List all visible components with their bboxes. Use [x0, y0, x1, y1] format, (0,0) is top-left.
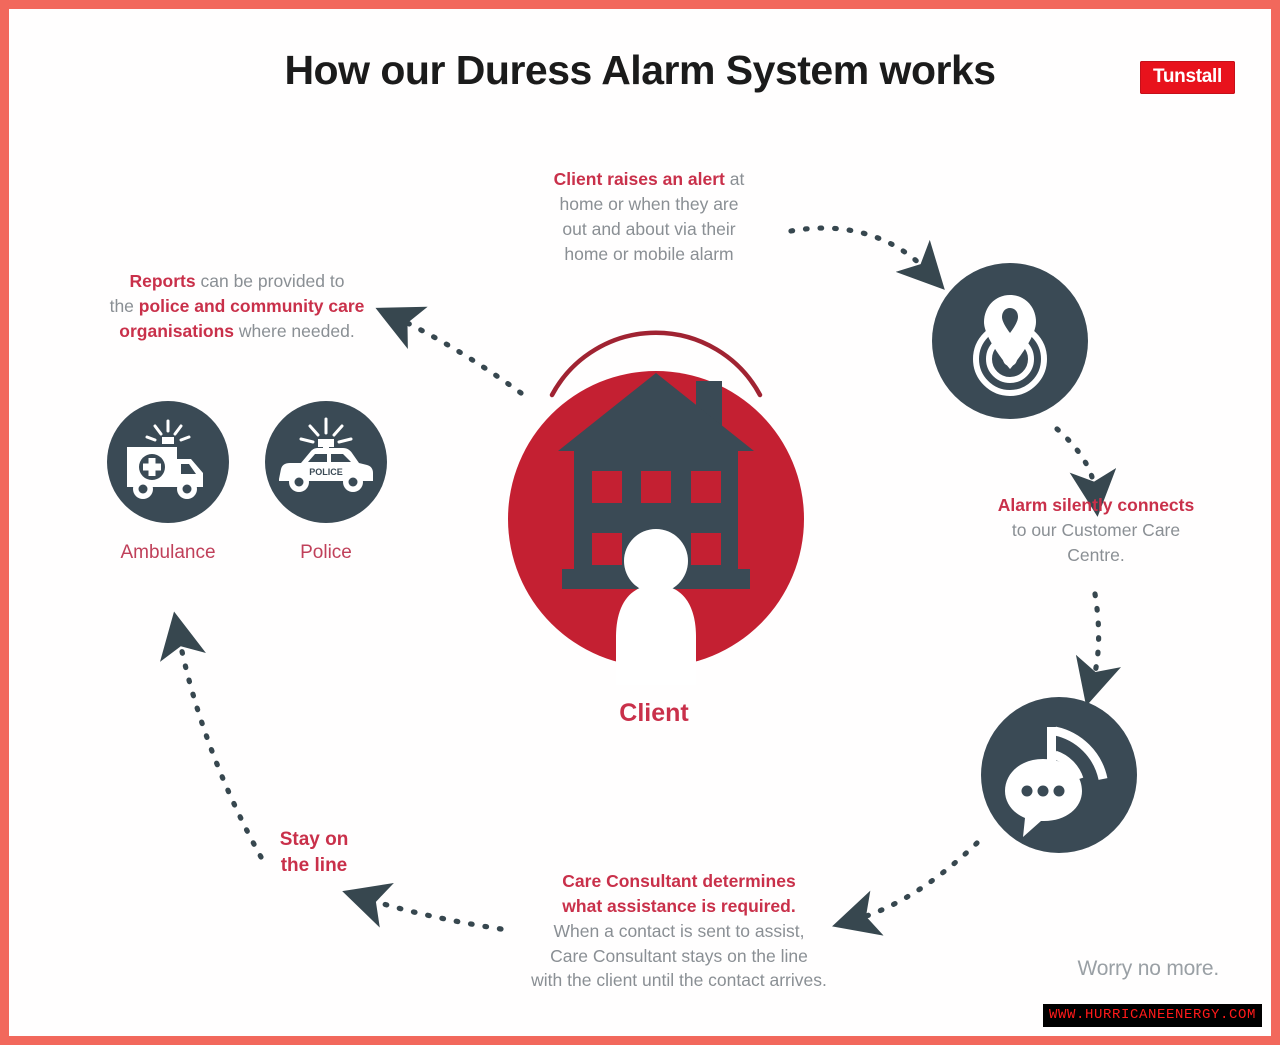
tunstall-logo: Tunstall	[1140, 61, 1235, 94]
tagline: Worry no more.	[1077, 957, 1219, 981]
page-title: How our Duress Alarm System works	[9, 47, 1271, 94]
reports-line2-pre: the	[110, 296, 139, 316]
step-text-reports: Reports can be provided to the police an…	[77, 269, 397, 344]
consultant-line4: Care Consultant stays on the line	[550, 946, 808, 966]
infographic-canvas: How our Duress Alarm System works Tunsta…	[0, 0, 1280, 1045]
person-silhouette	[616, 529, 696, 685]
location-node	[932, 263, 1088, 419]
arrow-location-to-care-centre	[1057, 429, 1095, 491]
chat-bubble-signal-icon	[981, 697, 1137, 853]
arrow-alert-to-location	[791, 228, 927, 271]
ambulance-label: Ambulance	[77, 542, 259, 564]
police-label: Police	[235, 542, 417, 564]
siren-flash	[301, 419, 351, 442]
ambulance-icon	[107, 401, 229, 523]
step-text-stay-on-line: Stay on the line	[239, 827, 389, 878]
reports-line3-rest: where needed.	[234, 321, 355, 341]
reports-emphasis: Reports	[130, 271, 196, 291]
alert-line1-rest: at	[725, 169, 744, 189]
alert-line2: home or when they are	[560, 194, 739, 214]
client-label: Client	[506, 699, 802, 728]
reports-line3-emphasis: organisations	[119, 321, 234, 341]
arrow-client-to-reports	[399, 319, 521, 393]
consultant-line3: When a contact is sent to assist,	[554, 921, 805, 941]
consultant-emphasis-line2: what assistance is required.	[562, 896, 795, 916]
stay-on-line-line1: Stay on	[280, 829, 349, 850]
arrow-to-emergency-services	[179, 637, 261, 857]
connect-emphasis: Alarm silently connects	[998, 495, 1194, 515]
reports-line1-rest: can be provided to	[196, 271, 345, 291]
police-vehicle-text: POLICE	[309, 467, 343, 477]
care-centre-node	[981, 697, 1137, 853]
step-text-connect: Alarm silently connects to our Customer …	[955, 493, 1237, 568]
consultant-line5: with the client until the contact arrive…	[531, 970, 827, 990]
police-node: POLICE	[265, 401, 387, 523]
alert-line4: home or mobile alarm	[564, 244, 733, 264]
connect-line2: to our Customer Care	[1012, 520, 1180, 540]
step-text-alert: Client raises an alert at home or when t…	[509, 167, 789, 266]
watermark-url: WWW.HURRICANEENERGY.COM	[1043, 1004, 1262, 1027]
alert-line3: out and about via their	[562, 219, 735, 239]
ambulance-node	[107, 401, 229, 523]
consultant-emphasis-line1: Care Consultant determines	[562, 871, 795, 891]
connect-line3: Centre.	[1067, 545, 1124, 565]
arrow-care-centre-to-chat	[1093, 594, 1099, 681]
client-hub-icon	[506, 285, 806, 685]
alert-emphasis: Client raises an alert	[554, 169, 725, 189]
step-text-consultant: Care Consultant determines what assistan…	[469, 869, 889, 993]
reports-line2-emphasis: police and community care	[139, 296, 365, 316]
location-pin-signal-icon	[932, 263, 1088, 419]
police-car-icon: POLICE	[265, 401, 387, 523]
stay-on-line-line2: the line	[281, 855, 348, 876]
